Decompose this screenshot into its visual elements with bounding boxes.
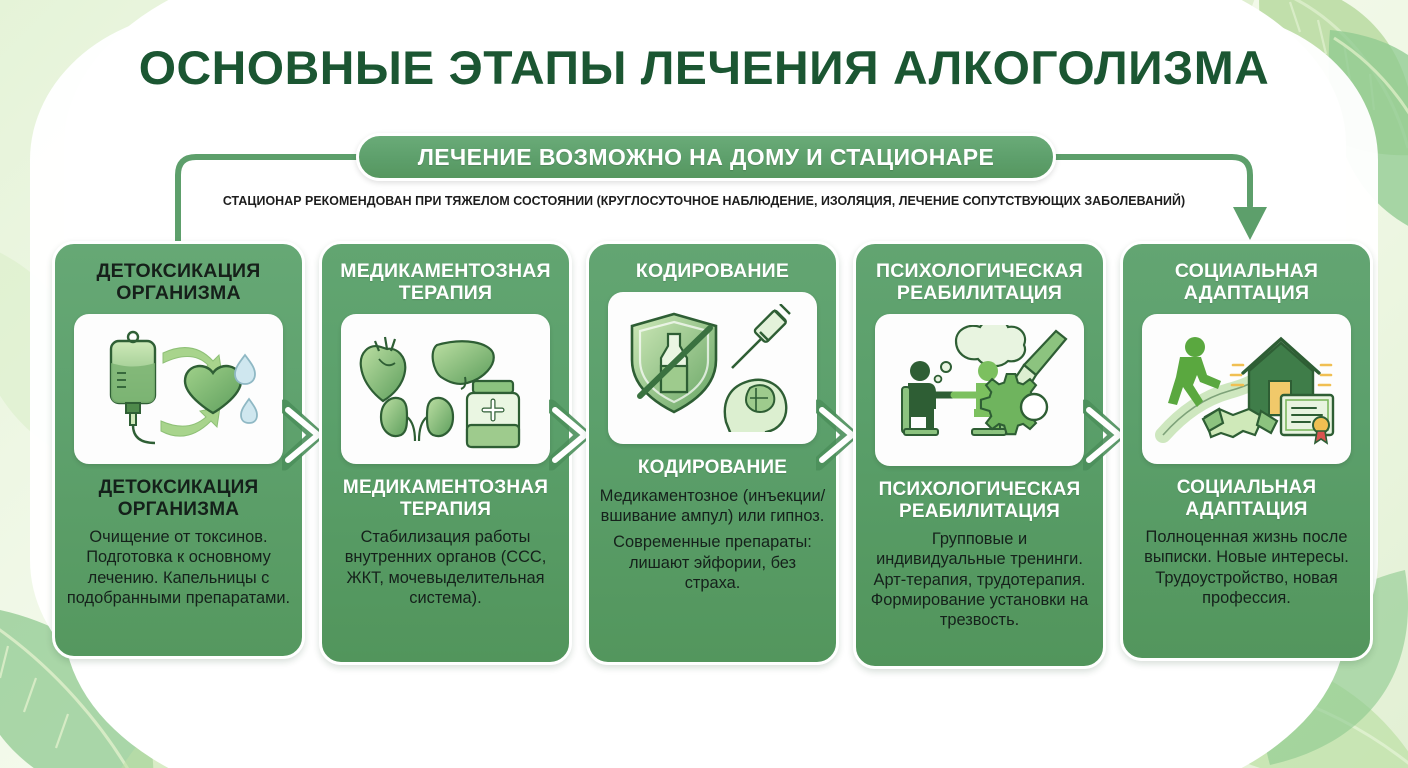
card-top-title: ПСИХОЛОГИЧЕСКАЯ РЕАБИЛИТАЦИЯ (856, 244, 1103, 304)
card-description: Стабилизация работы внутренних органов (… (322, 527, 569, 608)
card-description: Медикаментозное (инъекции/вшивание ампул… (589, 486, 836, 527)
card-description-secondary: Современные препараты: лишают эйфории, б… (589, 532, 836, 593)
card-name: ПСИХОЛОГИЧЕСКАЯ РЕАБИЛИТАЦИЯ (856, 479, 1103, 522)
card-top-title: ДЕТОКСИКАЦИЯ ОРГАНИЗМА (55, 244, 302, 304)
stage-card-psych-rehab[interactable]: ПСИХОЛОГИЧЕСКАЯ РЕАБИЛИТАЦИЯ (853, 241, 1106, 669)
icon-panel (74, 314, 283, 464)
stage-card-detox[interactable]: ДЕТОКСИКАЦИЯ ОРГАНИЗМА (52, 241, 305, 659)
card-description: Очищение от токсинов. Подготовка к основ… (55, 527, 302, 608)
medication-icons (355, 325, 537, 453)
syringe-icon (732, 304, 790, 368)
stage-card-social-adaptation[interactable]: СОЦИАЛЬНАЯ АДАПТАЦИЯ (1120, 241, 1373, 661)
coding-icons (622, 304, 804, 432)
heart-organ-icon (360, 337, 405, 401)
page-title: ОСНОВНЫЕ ЭТАПЫ ЛЕЧЕНИЯ АЛКОГОЛИЗМА (0, 40, 1408, 95)
iv-drip-bag-icon (111, 332, 155, 443)
card-name: СОЦИАЛЬНАЯ АДАПТАЦИЯ (1123, 477, 1370, 520)
card-top-title: КОДИРОВАНИЕ (589, 244, 836, 282)
social-icons (1155, 325, 1339, 453)
head-brain-icon (724, 380, 785, 432)
stage-card-medication[interactable]: МЕДИКАМЕНТОЗНАЯ ТЕРАПИЯ (319, 241, 572, 665)
banner-label: ЛЕЧЕНИЕ ВОЗМОЖНО НА ДОМУ И СТАЦИОНАРЕ (418, 144, 994, 171)
stage-card-coding[interactable]: КОДИРОВАНИЕ (586, 241, 839, 665)
card-top-title: МЕДИКАМЕНТОЗНАЯ ТЕРАПИЯ (322, 244, 569, 304)
card-name: МЕДИКАМЕНТОЗНАЯ ТЕРАПИЯ (322, 477, 569, 520)
banner-pill: ЛЕЧЕНИЕ ВОЗМОЖНО НА ДОМУ И СТАЦИОНАРЕ (356, 133, 1056, 181)
heart-icon (185, 366, 241, 413)
infographic-stage: ОСНОВНЫЕ ЭТАПЫ ЛЕЧЕНИЯ АЛКОГОЛИЗМА ЛЕЧЕН… (0, 0, 1408, 768)
icon-panel (1142, 314, 1351, 464)
icon-panel (608, 292, 817, 444)
card-top-title: СОЦИАЛЬНАЯ АДАПТАЦИЯ (1123, 244, 1370, 304)
detox-icons (89, 327, 269, 451)
gear-icon (980, 374, 1046, 434)
sub-note: СТАЦИОНАР РЕКОМЕНДОВАН ПРИ ТЯЖЕЛОМ СОСТО… (11, 194, 1398, 208)
card-name: КОДИРОВАНИЕ (589, 457, 836, 478)
card-description: Полноценная жизнь после выписки. Новые и… (1123, 527, 1370, 608)
card-name: ДЕТОКСИКАЦИЯ ОРГАНИЗМА (55, 477, 302, 520)
kidneys-icon (381, 398, 453, 441)
card-description: Групповые и индивидуальные тренинги. Арт… (856, 529, 1103, 631)
handshake-icon (1203, 409, 1277, 437)
medicine-bottle-icon (467, 381, 519, 447)
certificate-icon (1281, 395, 1333, 443)
icon-panel (875, 314, 1084, 466)
icon-panel (341, 314, 550, 464)
rehab-icons (888, 325, 1072, 455)
no-alcohol-shield-icon (632, 314, 716, 412)
